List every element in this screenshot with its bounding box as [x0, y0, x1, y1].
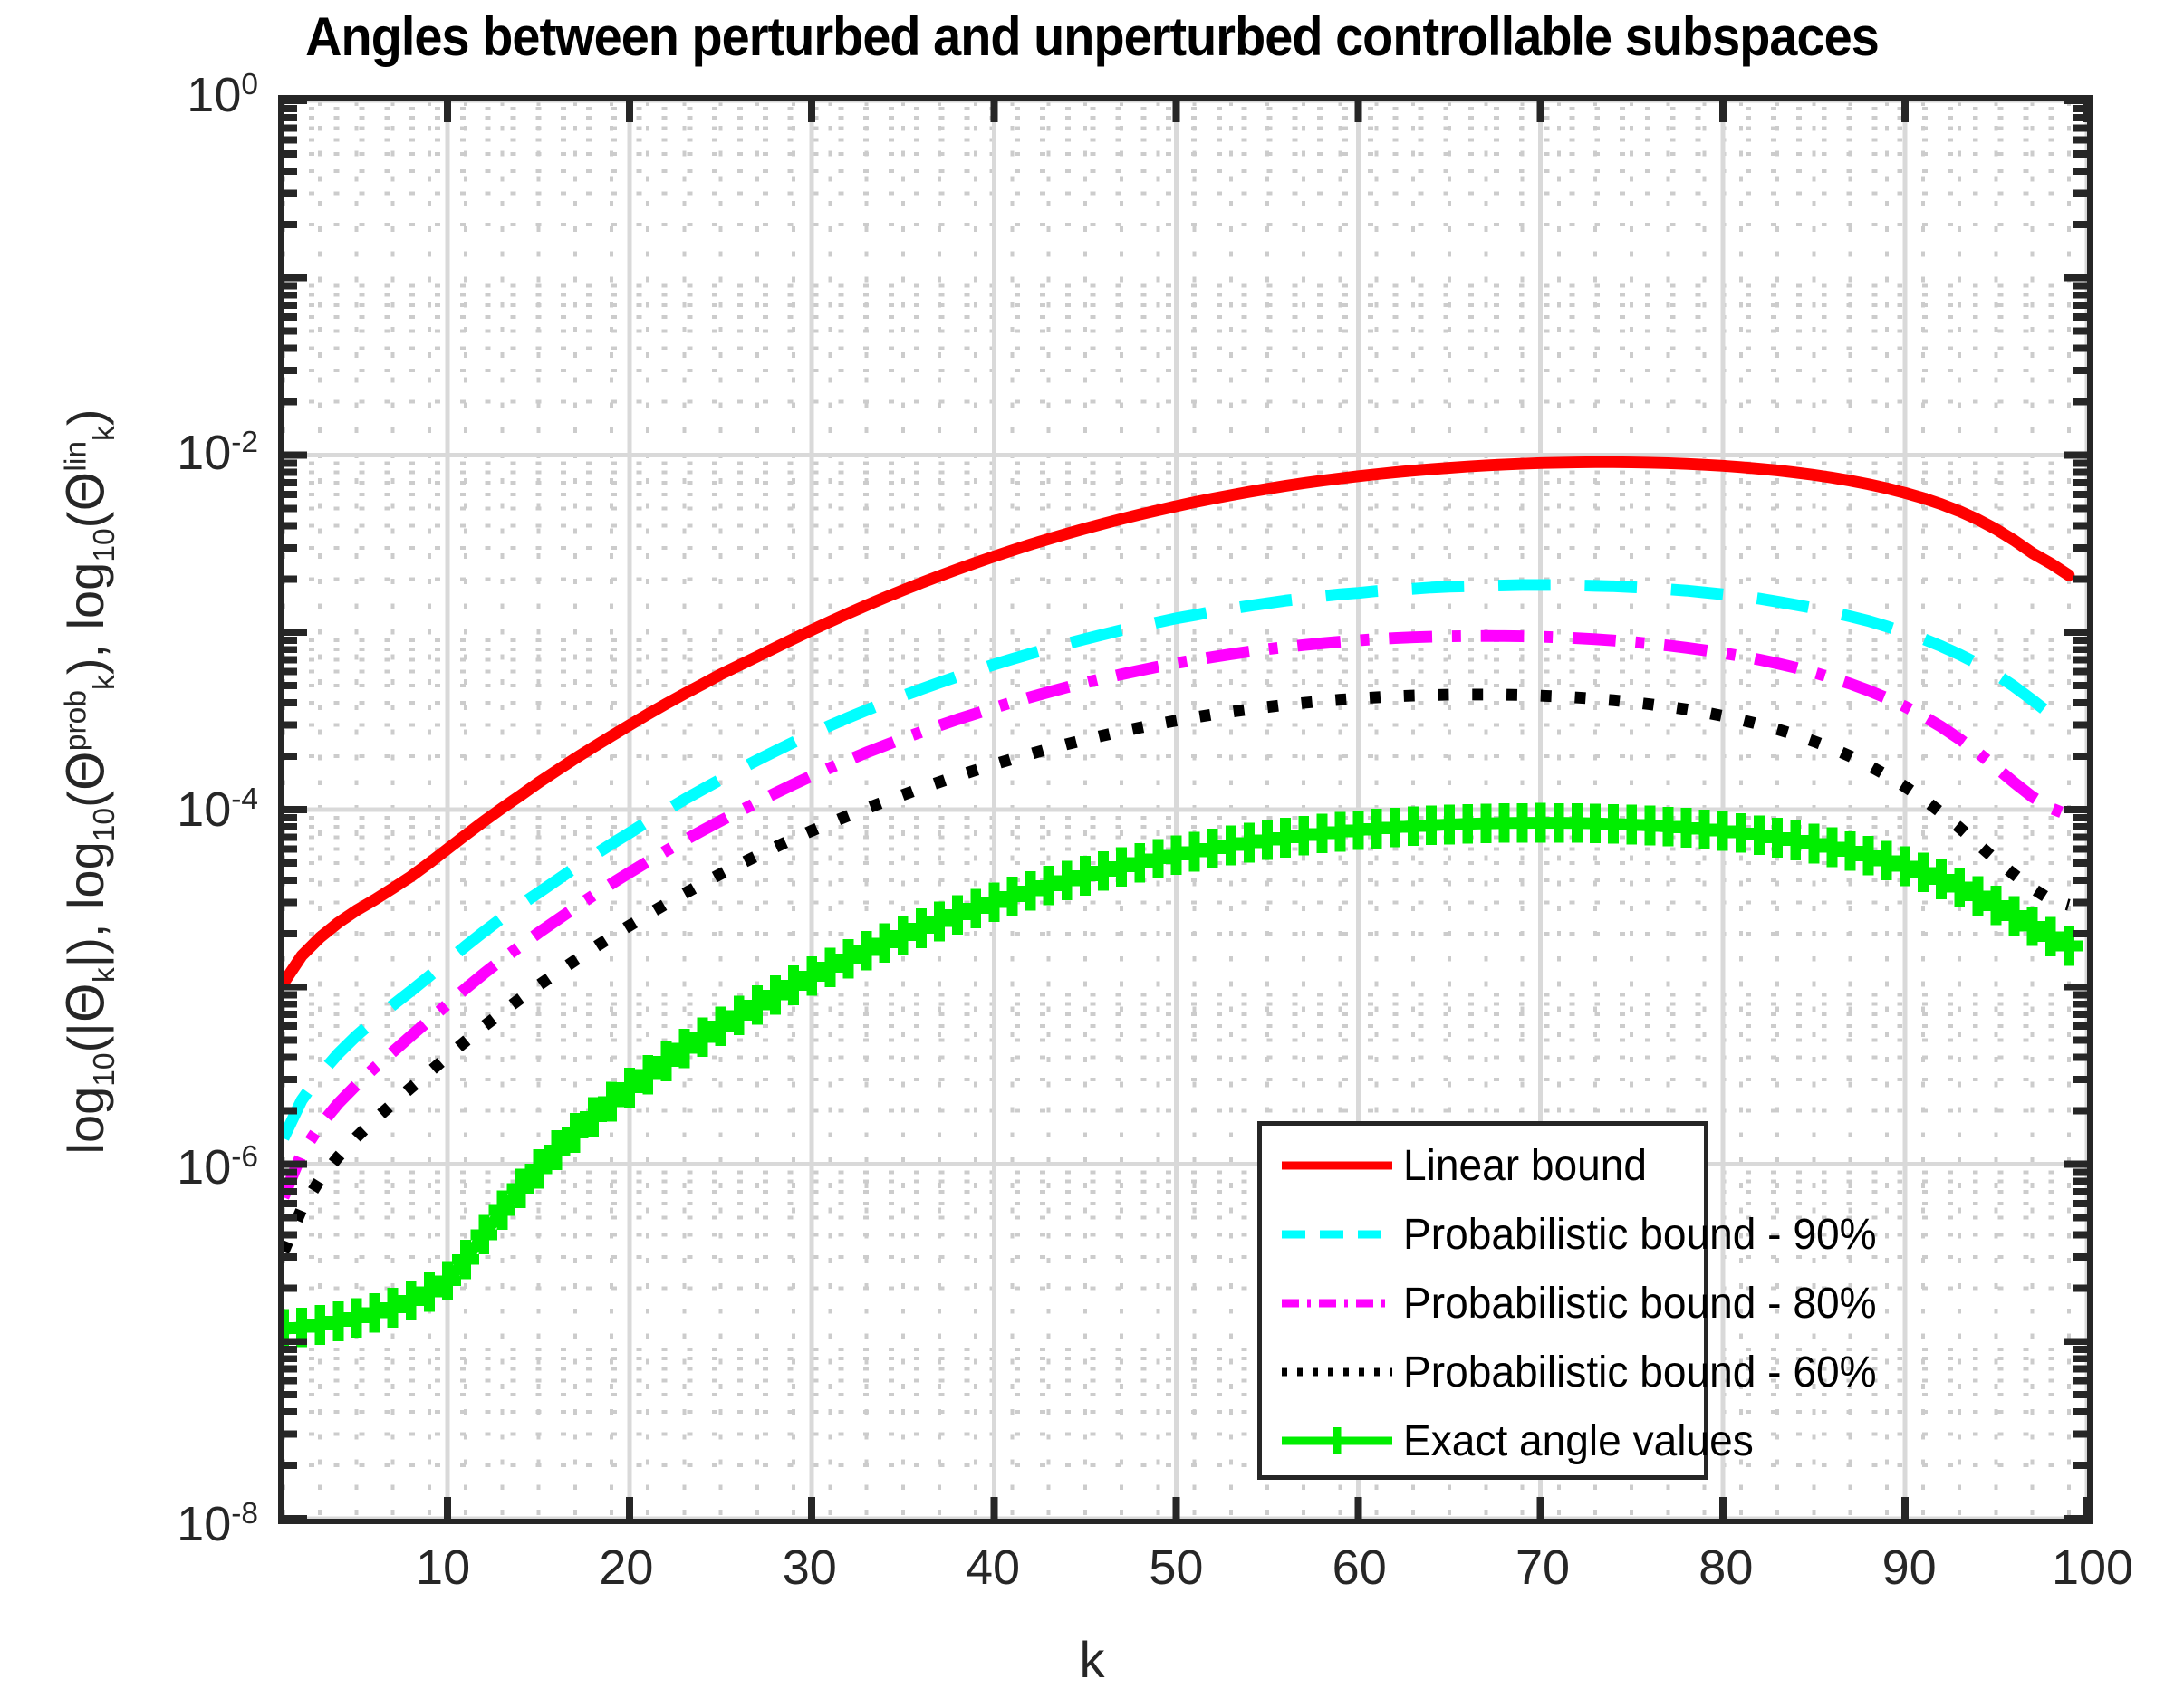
ylabel-sub-10-1: 10	[88, 1052, 121, 1086]
x-tick-label-0: 10	[416, 1540, 470, 1596]
ylabel-log1: log	[57, 1087, 114, 1155]
legend-swatch-icon-0	[1280, 1147, 1394, 1184]
ylabel-mid1: |), log	[57, 841, 114, 967]
ylabel-open3: (	[57, 512, 114, 529]
y-tick-mantissa: 10	[177, 1497, 231, 1551]
x-tick-label-1: 20	[599, 1540, 653, 1596]
legend-label-2: Probabilistic bound - 80%	[1403, 1279, 1877, 1329]
theta-symbol-3: Θ	[57, 472, 116, 512]
ylabel-mid2: ), log	[57, 562, 114, 676]
x-tick-label-4: 50	[1149, 1540, 1203, 1596]
theta-symbol-1: Θ	[57, 983, 116, 1022]
y-tick-label-2: 10-4	[177, 782, 258, 838]
legend-item-1[interactable]: Probabilistic bound - 90%	[1262, 1202, 1704, 1267]
x-tick-label-2: 30	[783, 1540, 837, 1596]
x-tick-label-9: 100	[2052, 1540, 2133, 1596]
ylabel-sub-k-3: k	[88, 426, 121, 441]
legend-swatch-icon-4	[1280, 1423, 1394, 1459]
ylabel-sub-k-2: k	[88, 675, 121, 690]
ylabel-sup-prob: prob	[59, 690, 92, 751]
y-tick-mantissa: 10	[187, 68, 241, 122]
legend-label-1: Probabilistic bound - 90%	[1403, 1210, 1877, 1260]
ylabel-open1: (|	[57, 1022, 114, 1052]
theta-symbol-2: Θ	[57, 751, 116, 791]
y-tick-label-4: 10-8	[177, 1496, 258, 1552]
x-tick-label-6: 70	[1515, 1540, 1570, 1596]
chart-legend: Linear boundProbabilistic bound - 90%Pro…	[1257, 1121, 1708, 1480]
chart-page: Angles between perturbed and unperturbed…	[0, 0, 2184, 1708]
legend-label-0: Linear bound	[1403, 1141, 1647, 1191]
y-tick-mantissa: 10	[177, 1140, 231, 1195]
y-tick-label-3: 10-6	[177, 1139, 258, 1195]
x-tick-label-5: 60	[1333, 1540, 1387, 1596]
y-tick-exponent: -8	[231, 1497, 258, 1530]
x-tick-label-7: 80	[1698, 1540, 1753, 1596]
x-tick-label-3: 40	[966, 1540, 1020, 1596]
y-tick-label-0: 100	[187, 67, 258, 123]
y-tick-exponent: -6	[231, 1140, 258, 1174]
ylabel-open2: (	[57, 791, 114, 808]
y-tick-exponent: 0	[241, 68, 258, 101]
ylabel-sub-k-1: k	[88, 967, 121, 983]
legend-label-3: Probabilistic bound - 60%	[1403, 1348, 1877, 1397]
y-tick-mantissa: 10	[177, 782, 231, 837]
ylabel-sub-10-2: 10	[88, 808, 121, 841]
y-tick-exponent: -2	[231, 426, 258, 459]
legend-item-2[interactable]: Probabilistic bound - 80%	[1262, 1271, 1704, 1336]
ylabel-close: )	[57, 409, 114, 427]
x-tick-label-8: 90	[1882, 1540, 1937, 1596]
y-tick-exponent: -4	[231, 782, 258, 816]
legend-item-4[interactable]: Exact angle values	[1262, 1408, 1704, 1473]
legend-swatch-icon-2	[1280, 1285, 1394, 1321]
legend-label-4: Exact angle values	[1403, 1416, 1754, 1466]
x-axis-label: k	[0, 1630, 2184, 1689]
legend-swatch-icon-1	[1280, 1216, 1394, 1252]
ylabel-sup-lin: lin	[59, 441, 92, 472]
y-axis-label: log10(|Θk|), log10(Θprobk), log10(Θlink)	[56, 193, 116, 1370]
legend-item-3[interactable]: Probabilistic bound - 60%	[1262, 1339, 1704, 1405]
y-tick-mantissa: 10	[177, 426, 231, 480]
y-tick-label-1: 10-2	[177, 425, 258, 481]
legend-item-0[interactable]: Linear bound	[1262, 1133, 1704, 1198]
ylabel-sub-10-3: 10	[88, 528, 121, 561]
chart-title: Angles between perturbed and unperturbed…	[76, 5, 2107, 68]
legend-swatch-icon-3	[1280, 1354, 1394, 1390]
